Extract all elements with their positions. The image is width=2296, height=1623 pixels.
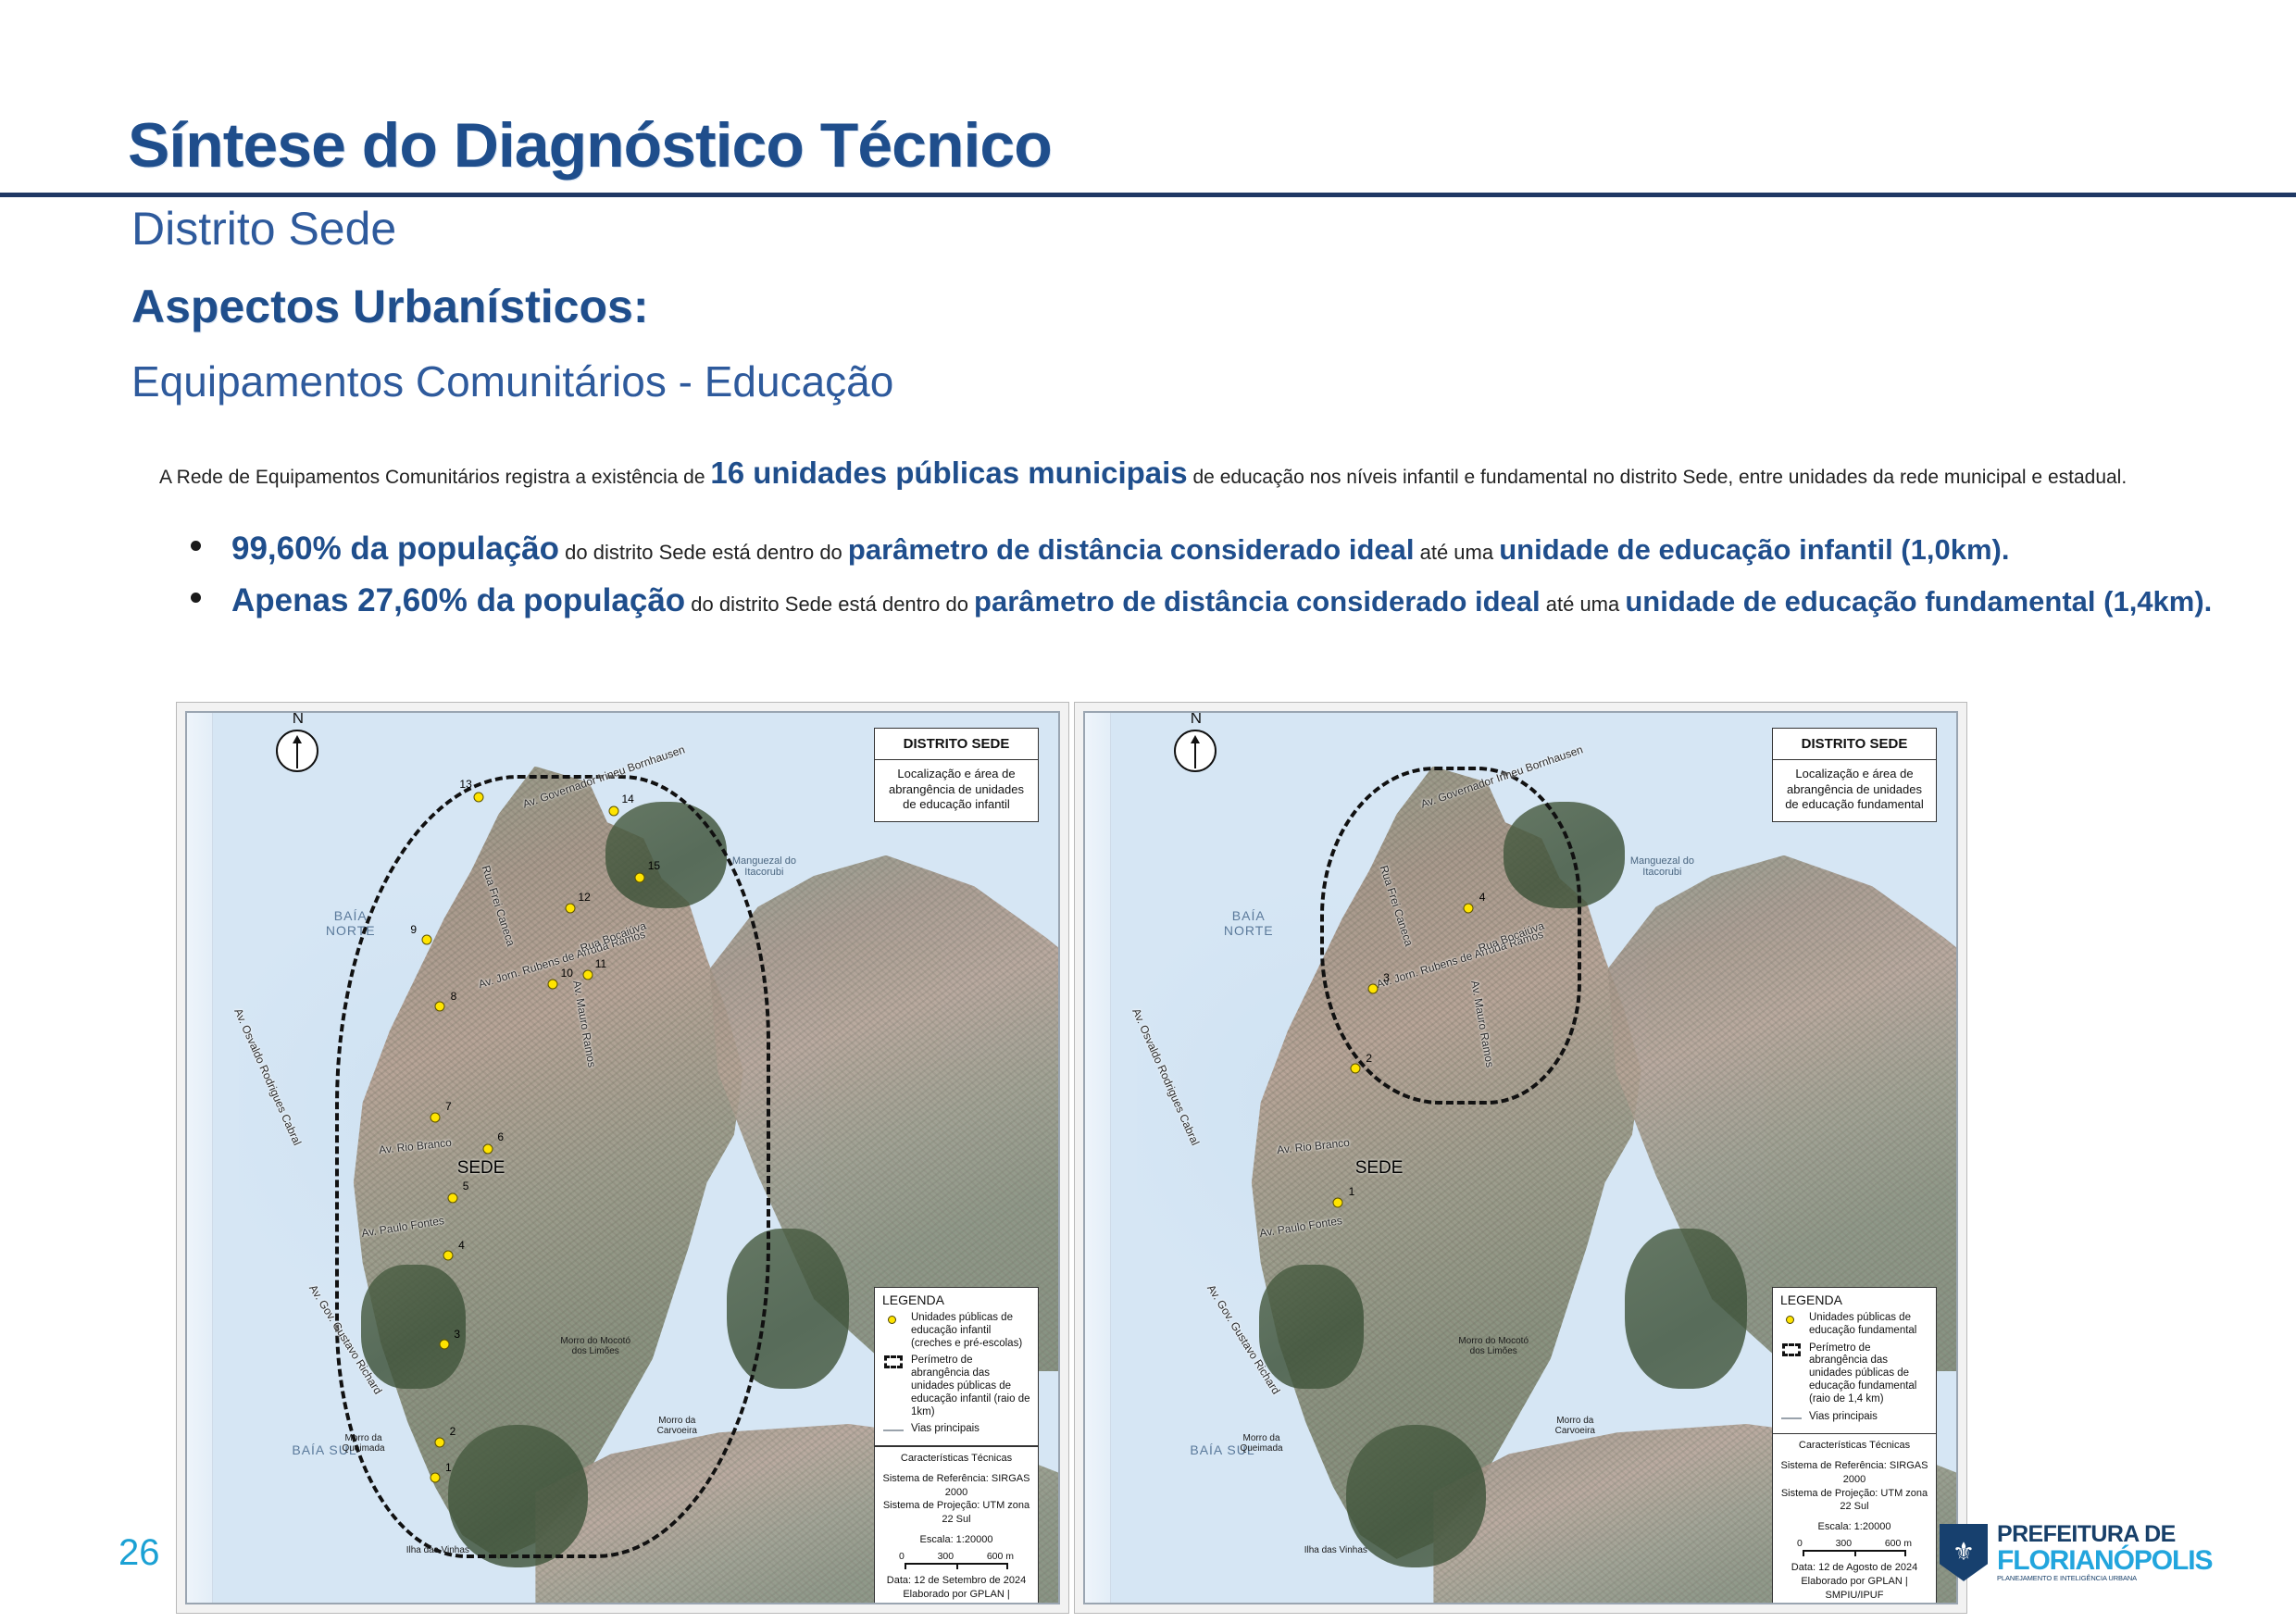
education-point[interactable] [434,1438,444,1448]
label-baia-norte: BAÍA NORTE [1207,908,1291,938]
label-morro-limoes: Morro do Mocotó dos Limões [1451,1336,1536,1356]
education-point[interactable] [439,1340,449,1350]
label-ilha-vinhas: Ilha das Vinhas [1294,1545,1378,1555]
tech-proj-system: Sistema de Projeção: UTM zona 22 Sul [1778,1487,1930,1515]
north-arrow-box: N [1085,713,1250,793]
education-point[interactable] [566,904,576,914]
scale-bar: 0 300 600 m [1797,1537,1912,1557]
legend-row-roads: Vias principais [1773,1409,1936,1429]
tech-date: Data: 12 de Agosto de 2024 [1778,1561,1930,1575]
bullet-strong-1: Apenas 27,60% da população [231,582,685,618]
label-ilha-vinhas: Ilha das Vinhas [396,1545,480,1555]
education-point[interactable] [448,1192,458,1203]
map-panel-educacao-fundamental[interactable]: BAÍA NORTE BAÍA SUL SEDE Manguezal do It… [1074,702,1967,1614]
list-item: Apenas 27,60% da população do distrito S… [176,578,2240,624]
label-morro-limoes: Morro do Mocotó dos Limões [553,1336,638,1356]
education-point[interactable] [548,980,558,990]
legend-point-icon [882,1312,905,1328]
north-letter: N [1191,711,1202,728]
bullet-strong-3: unidade de educação infantil (1,0km). [1499,533,2009,566]
map-legend-box: LEGENDA Unidades públicas de educação in… [874,1287,1039,1604]
page-title: Síntese do Diagnóstico Técnico [128,109,1052,181]
education-point-label: 9 [410,923,417,936]
scale-max: 600 m [987,1550,1014,1563]
green-area [1259,1265,1364,1390]
map-title: DISTRITO SEDE [1773,729,1936,760]
education-point-label: 4 [458,1239,465,1252]
label-sede: SEDE [1355,1158,1404,1179]
legend-label: Perímetro de abrangência das unidades pú… [911,1355,1030,1418]
footer-logo-line2: FLORIANÓPOLIS [1997,1547,2212,1576]
bullet-text: Apenas 27,60% da população do distrito S… [231,578,2240,624]
education-point-label: 3 [454,1328,460,1341]
tech-date: Data: 12 de Setembro de 2024 [880,1574,1032,1588]
compass-icon [276,730,318,772]
legend-point-icon [1780,1312,1803,1328]
ocean-strip [187,713,213,1603]
education-point-label: 14 [621,793,633,805]
education-point[interactable] [430,1113,441,1123]
education-point-label: 1 [445,1461,452,1474]
tech-info: Características Técnicas Sistema de Refe… [1773,1434,1936,1604]
bullet-dot-icon [191,541,201,551]
map-title: DISTRITO SEDE [875,729,1038,760]
tech-info: Características Técnicas Sistema de Refe… [875,1447,1038,1604]
label-baia-norte: BAÍA NORTE [309,908,393,938]
map-canvas-left[interactable]: BAÍA NORTE BAÍA SUL SEDE Manguezal do It… [185,711,1060,1604]
education-point-label: 15 [648,859,660,872]
legend-heading: LEGENDA [1773,1288,1936,1310]
page-number: 26 [119,1532,160,1574]
education-point[interactable] [1332,1197,1342,1207]
tech-author: Elaborado por GPLAN | SMPIU/IPUF [880,1588,1032,1604]
ocean-strip [1085,713,1111,1603]
footer-logo-line3: PLANEJAMENTO E INTELIGÊNCIA URBANA [1997,1575,2212,1582]
tech-source: Dados: SMPIU/ IPUF [1778,1603,1930,1604]
label-morro-queimada: Morro da Queimada [327,1433,401,1454]
intro-part2: de educação nos níveis infantil e fundam… [1188,467,2128,488]
education-point-label: 10 [561,967,573,980]
education-point-label: 6 [497,1130,504,1143]
intro-paragraph: A Rede de Equipamentos Comunitários regi… [159,449,2239,496]
north-arrow-box: N [187,713,352,793]
bullet-mid-2: até uma [1541,593,1626,616]
bullet-list: 99,60% da população do distrito Sede est… [176,526,2240,629]
map-subtitle: Localização e área de abrangência de uni… [875,760,1038,821]
education-point-label: 8 [451,990,457,1003]
tech-scale: Escala: 1:20000 [1778,1520,1930,1534]
scale-min: 0 [899,1550,905,1563]
scale-bar: 0 300 600 m [899,1550,1014,1570]
education-point-label: 2 [1366,1052,1372,1065]
education-point-label: 12 [578,891,590,904]
education-point[interactable] [421,935,431,945]
education-point[interactable] [609,805,619,816]
list-item: 99,60% da população do distrito Sede est… [176,526,2240,572]
label-manguezal-itacorubi: Manguezal do Itacorubi [727,855,801,878]
scale-mid: 300 [938,1550,955,1563]
legend-road-icon [882,1423,905,1439]
bullet-mid-1: do distrito Sede está dentro do [559,541,848,564]
tech-heading: Características Técnicas [880,1452,1032,1466]
scale-mid: 300 [1836,1537,1853,1550]
north-letter: N [293,711,304,728]
legend-heading: LEGENDA [875,1288,1038,1310]
education-point[interactable] [443,1251,454,1261]
education-point-label: 3 [1383,971,1390,984]
bullet-strong-2: parâmetro de distância considerado ideal [974,585,1541,618]
education-point[interactable] [482,1143,493,1154]
map-panel-educacao-infantil[interactable]: BAÍA NORTE BAÍA SUL SEDE Manguezal do It… [176,702,1069,1614]
bullet-mid-1: do distrito Sede está dentro do [685,593,974,616]
label-morro-queimada: Morro da Queimada [1225,1433,1299,1454]
education-point[interactable] [1367,983,1378,993]
label-morro-carvoeira: Morro da Carvoeira [1538,1416,1612,1436]
education-point-label: 2 [450,1425,456,1438]
legend-row-points: Unidades públicas de educação infantil (… [875,1310,1038,1353]
tech-ref-system: Sistema de Referência: SIRGAS 2000 [880,1472,1032,1500]
section-subtitle: Equipamentos Comunitários - Educação [131,356,893,406]
tech-heading: Características Técnicas [1778,1439,1930,1453]
green-area [1625,1229,1747,1389]
bullet-strong-1: 99,60% da população [231,531,559,567]
legend-label: Unidades públicas de educação fundamenta… [1809,1312,1928,1338]
label-sede: SEDE [457,1158,505,1179]
education-point[interactable] [582,970,593,980]
education-point-label: 11 [595,957,606,970]
education-point-label: 4 [1479,891,1486,904]
legend-road-icon [1780,1411,1803,1427]
map-title-box: DISTRITO SEDE Localização e área de abra… [1772,728,1937,822]
intro-part1: A Rede de Equipamentos Comunitários regi… [159,467,710,488]
legend-perimeter-icon [882,1355,905,1370]
scale-min: 0 [1797,1537,1803,1550]
header-subtitle: Distrito Sede [131,202,396,256]
legend-label: Vias principais [911,1423,980,1436]
footer-prefeitura-logo: ⚜ PREFEITURA DE FLORIANÓPOLIS PLANEJAMEN… [1940,1523,2212,1582]
intro-highlight: 16 unidades públicas municipais [710,456,1187,490]
education-point[interactable] [1350,1064,1360,1074]
tech-proj-system: Sistema de Projeção: UTM zona 22 Sul [880,1499,1032,1527]
footer-logo-line1: PREFEITURA DE [1997,1523,2212,1547]
slide: Síntese do Diagnóstico Técnico Distrito … [0,0,2296,1623]
education-point[interactable] [430,1473,441,1483]
map-legend-box: LEGENDA Unidades públicas de educação fu… [1772,1287,1937,1604]
legend-row-roads: Vias principais [875,1421,1038,1442]
education-point-label: 5 [463,1180,469,1192]
bullet-strong-2: parâmetro de distância considerado ideal [848,533,1415,566]
tech-author: Elaborado por GPLAN | SMPIU/IPUF [1778,1575,1930,1603]
education-point[interactable] [474,793,484,803]
legend-perimeter-icon [1780,1342,1803,1358]
compass-icon [1174,730,1217,772]
map-title-box: DISTRITO SEDE Localização e área de abra… [874,728,1039,822]
education-point[interactable] [434,1002,444,1012]
legend-row-perimeter: Perímetro de abrangência das unidades pú… [1773,1341,1936,1409]
education-point-label: 7 [445,1100,452,1113]
header-divider [0,193,2296,197]
bullet-text: 99,60% da população do distrito Sede est… [231,526,2240,572]
tech-ref-system: Sistema de Referência: SIRGAS 2000 [1778,1459,1930,1487]
coat-of-arms-icon: ⚜ [1940,1524,1988,1581]
legend-row-perimeter: Perímetro de abrangência das unidades pú… [875,1353,1038,1421]
label-morro-carvoeira: Morro da Carvoeira [640,1416,714,1436]
map-canvas-right[interactable]: BAÍA NORTE BAÍA SUL SEDE Manguezal do It… [1083,711,1958,1604]
label-manguezal-itacorubi: Manguezal do Itacorubi [1625,855,1699,878]
bullet-dot-icon [191,593,201,603]
legend-label: Perímetro de abrangência das unidades pú… [1809,1342,1928,1406]
section-title: Aspectos Urbanísticos: [131,280,648,333]
education-point-label: 1 [1349,1185,1355,1198]
legend-label: Unidades públicas de educação infantil (… [911,1312,1030,1350]
tech-scale: Escala: 1:20000 [880,1533,1032,1547]
education-point[interactable] [1464,904,1474,914]
bullet-mid-2: até uma [1415,541,1500,564]
education-point[interactable] [635,872,645,882]
map-subtitle: Localização e área de abrangência de uni… [1773,760,1936,821]
legend-label: Vias principais [1809,1411,1878,1424]
bullet-strong-3: unidade de educação fundamental (1,4km). [1625,585,2212,618]
education-point-label: 13 [459,778,471,791]
scale-max: 600 m [1885,1537,1912,1550]
legend-row-points: Unidades públicas de educação fundamenta… [1773,1310,1936,1341]
